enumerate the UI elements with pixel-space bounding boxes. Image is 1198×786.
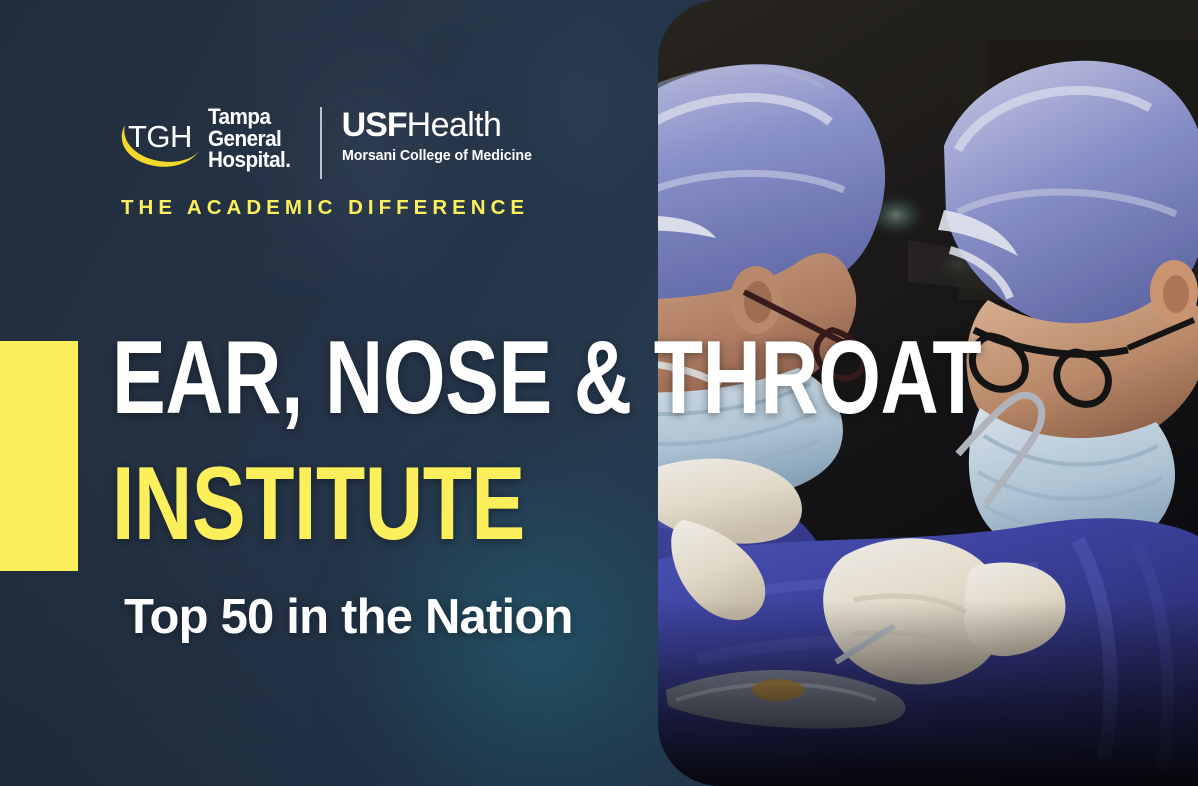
yellow-accent-bar [0,341,78,571]
logo-divider [320,107,322,179]
tgh-wordmark: Tampa General Hospital. [208,106,290,171]
tgh-monogram-icon: TGH [119,111,203,173]
usf-subtitle: Morsani College of Medicine [342,147,532,165]
subheadline: Top 50 in the Nation [124,591,573,643]
usf-health-logo: USFHealth Morsani College of Medicine [342,107,542,165]
tgh-word-line1: Tampa [208,106,290,128]
promotional-banner: TGH Tampa General Hospital. USFHealth Mo… [0,0,1198,786]
logo-lockup: TGH Tampa General Hospital. USFHealth Mo… [119,105,541,181]
headline-line-1: EAR, NOSE & THROAT [112,326,981,430]
headline: EAR, NOSE & THROAT INSTITUTE [112,326,1198,556]
svg-text:TGH: TGH [128,119,192,154]
tgh-word-line3: Hospital. [208,149,290,171]
tagline: THE ACADEMIC DIFFERENCE [121,196,529,220]
usf-bold-text: USF [342,106,407,144]
tgh-logo: TGH Tampa General Hospital. [119,105,298,173]
usf-light-text: Health [407,106,502,144]
tgh-word-line2: General [208,128,290,150]
headline-line-2: INSTITUTE [112,452,981,556]
usf-wordmark: USFHealth [342,107,542,143]
